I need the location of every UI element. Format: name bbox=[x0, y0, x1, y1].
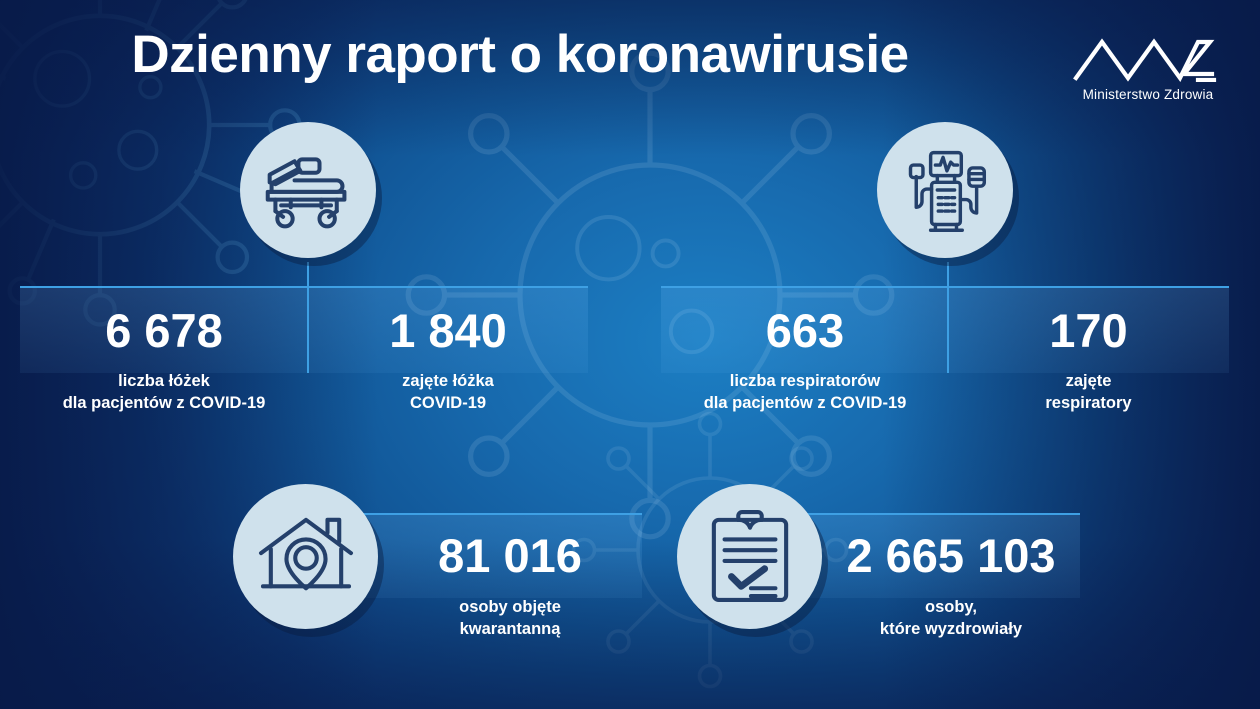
stat-beds-total: 6 678 liczba łóżek dla pacjentów z COVID… bbox=[20, 303, 308, 415]
stat-beds-occupied: 1 840 zajęte łóżka COVID-19 bbox=[308, 303, 588, 415]
stat-value: 2 665 103 bbox=[822, 528, 1080, 583]
page-title: Dzienny raport o koronawirusie bbox=[0, 24, 1040, 85]
stat-label: liczba łóżek dla pacjentów z COVID-19 bbox=[20, 371, 308, 415]
stat-label: osoby, które wyzdrowiały bbox=[822, 597, 1080, 641]
house-pin-icon-circle bbox=[233, 484, 378, 629]
stat-value: 6 678 bbox=[20, 303, 308, 358]
stat-label: zajęte łóżka COVID-19 bbox=[308, 371, 588, 415]
stat-ventilators-occupied: 170 zajęte respiratory bbox=[948, 303, 1229, 415]
mz-zigzag-icon bbox=[1072, 34, 1224, 82]
stat-value: 170 bbox=[948, 303, 1229, 358]
clipboard-check-icon-circle bbox=[677, 484, 822, 629]
hospital-bed-icon-circle bbox=[240, 122, 376, 258]
infographic-canvas: Dzienny raport o koronawirusie Ministers… bbox=[0, 0, 1260, 709]
stat-value: 81 016 bbox=[378, 528, 642, 583]
ventilator-icon bbox=[899, 144, 991, 236]
ministry-logo-label: Ministerstwo Zdrowia bbox=[1062, 87, 1234, 102]
ventilator-icon-circle bbox=[877, 122, 1013, 258]
hospital-bed-icon bbox=[262, 151, 354, 229]
ministry-logo: Ministerstwo Zdrowia bbox=[1062, 34, 1234, 102]
house-pin-icon bbox=[257, 514, 355, 600]
stat-label: zajęte respiratory bbox=[948, 371, 1229, 415]
stat-label: liczba respiratorów dla pacjentów z COVI… bbox=[661, 371, 949, 415]
stat-value: 1 840 bbox=[308, 303, 588, 358]
stat-label: osoby objęte kwarantanną bbox=[378, 597, 642, 641]
stat-value: 663 bbox=[661, 303, 949, 358]
clipboard-check-icon bbox=[708, 510, 792, 604]
stat-recovered: 2 665 103 osoby, które wyzdrowiały bbox=[822, 528, 1080, 641]
stat-ventilators-total: 663 liczba respiratorów dla pacjentów z … bbox=[661, 303, 949, 415]
stat-quarantined: 81 016 osoby objęte kwarantanną bbox=[378, 528, 642, 641]
